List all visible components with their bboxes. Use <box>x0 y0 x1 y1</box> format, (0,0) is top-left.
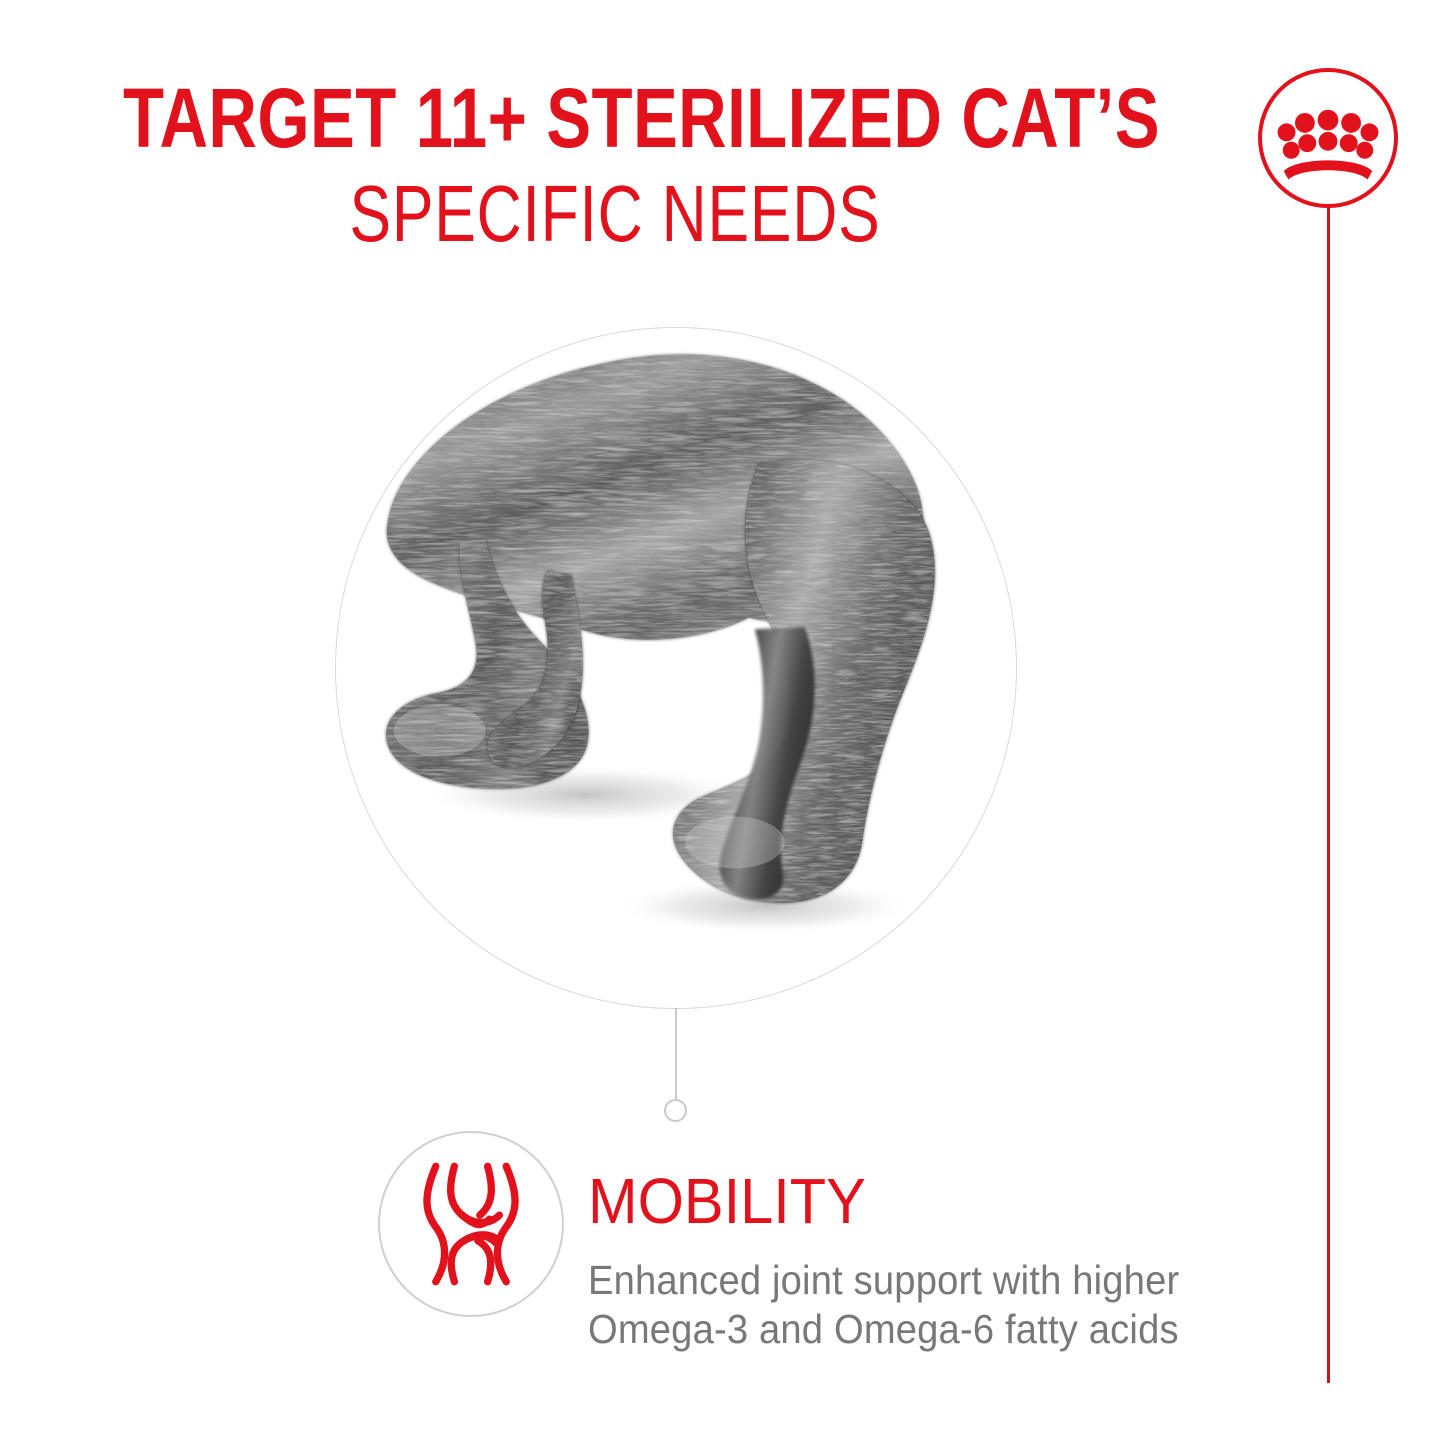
headline-line-1: TARGET 11+ STERILIZED CAT’S <box>123 72 1107 164</box>
cat-legs-photo-art <box>336 328 1016 1008</box>
page-title: TARGET 11+ STERILIZED CAT’S SPECIFIC NEE… <box>0 72 1230 258</box>
benefit-text-block: MOBILITY Enhanced joint support with hig… <box>588 1168 1268 1354</box>
product-hero-photo <box>335 327 1017 1009</box>
headline-line-2: SPECIFIC NEEDS <box>135 170 1094 258</box>
benefit-description: Enhanced joint support with higher Omega… <box>588 1256 1220 1354</box>
royal-canin-crown-icon <box>1258 68 1398 208</box>
connector-dot-icon <box>664 1099 687 1122</box>
joint-mobility-icon <box>378 1131 564 1317</box>
brand-vertical-rule <box>1327 200 1330 1383</box>
connector-line <box>675 1008 677 1100</box>
benefit-title: MOBILITY <box>588 1168 1220 1234</box>
